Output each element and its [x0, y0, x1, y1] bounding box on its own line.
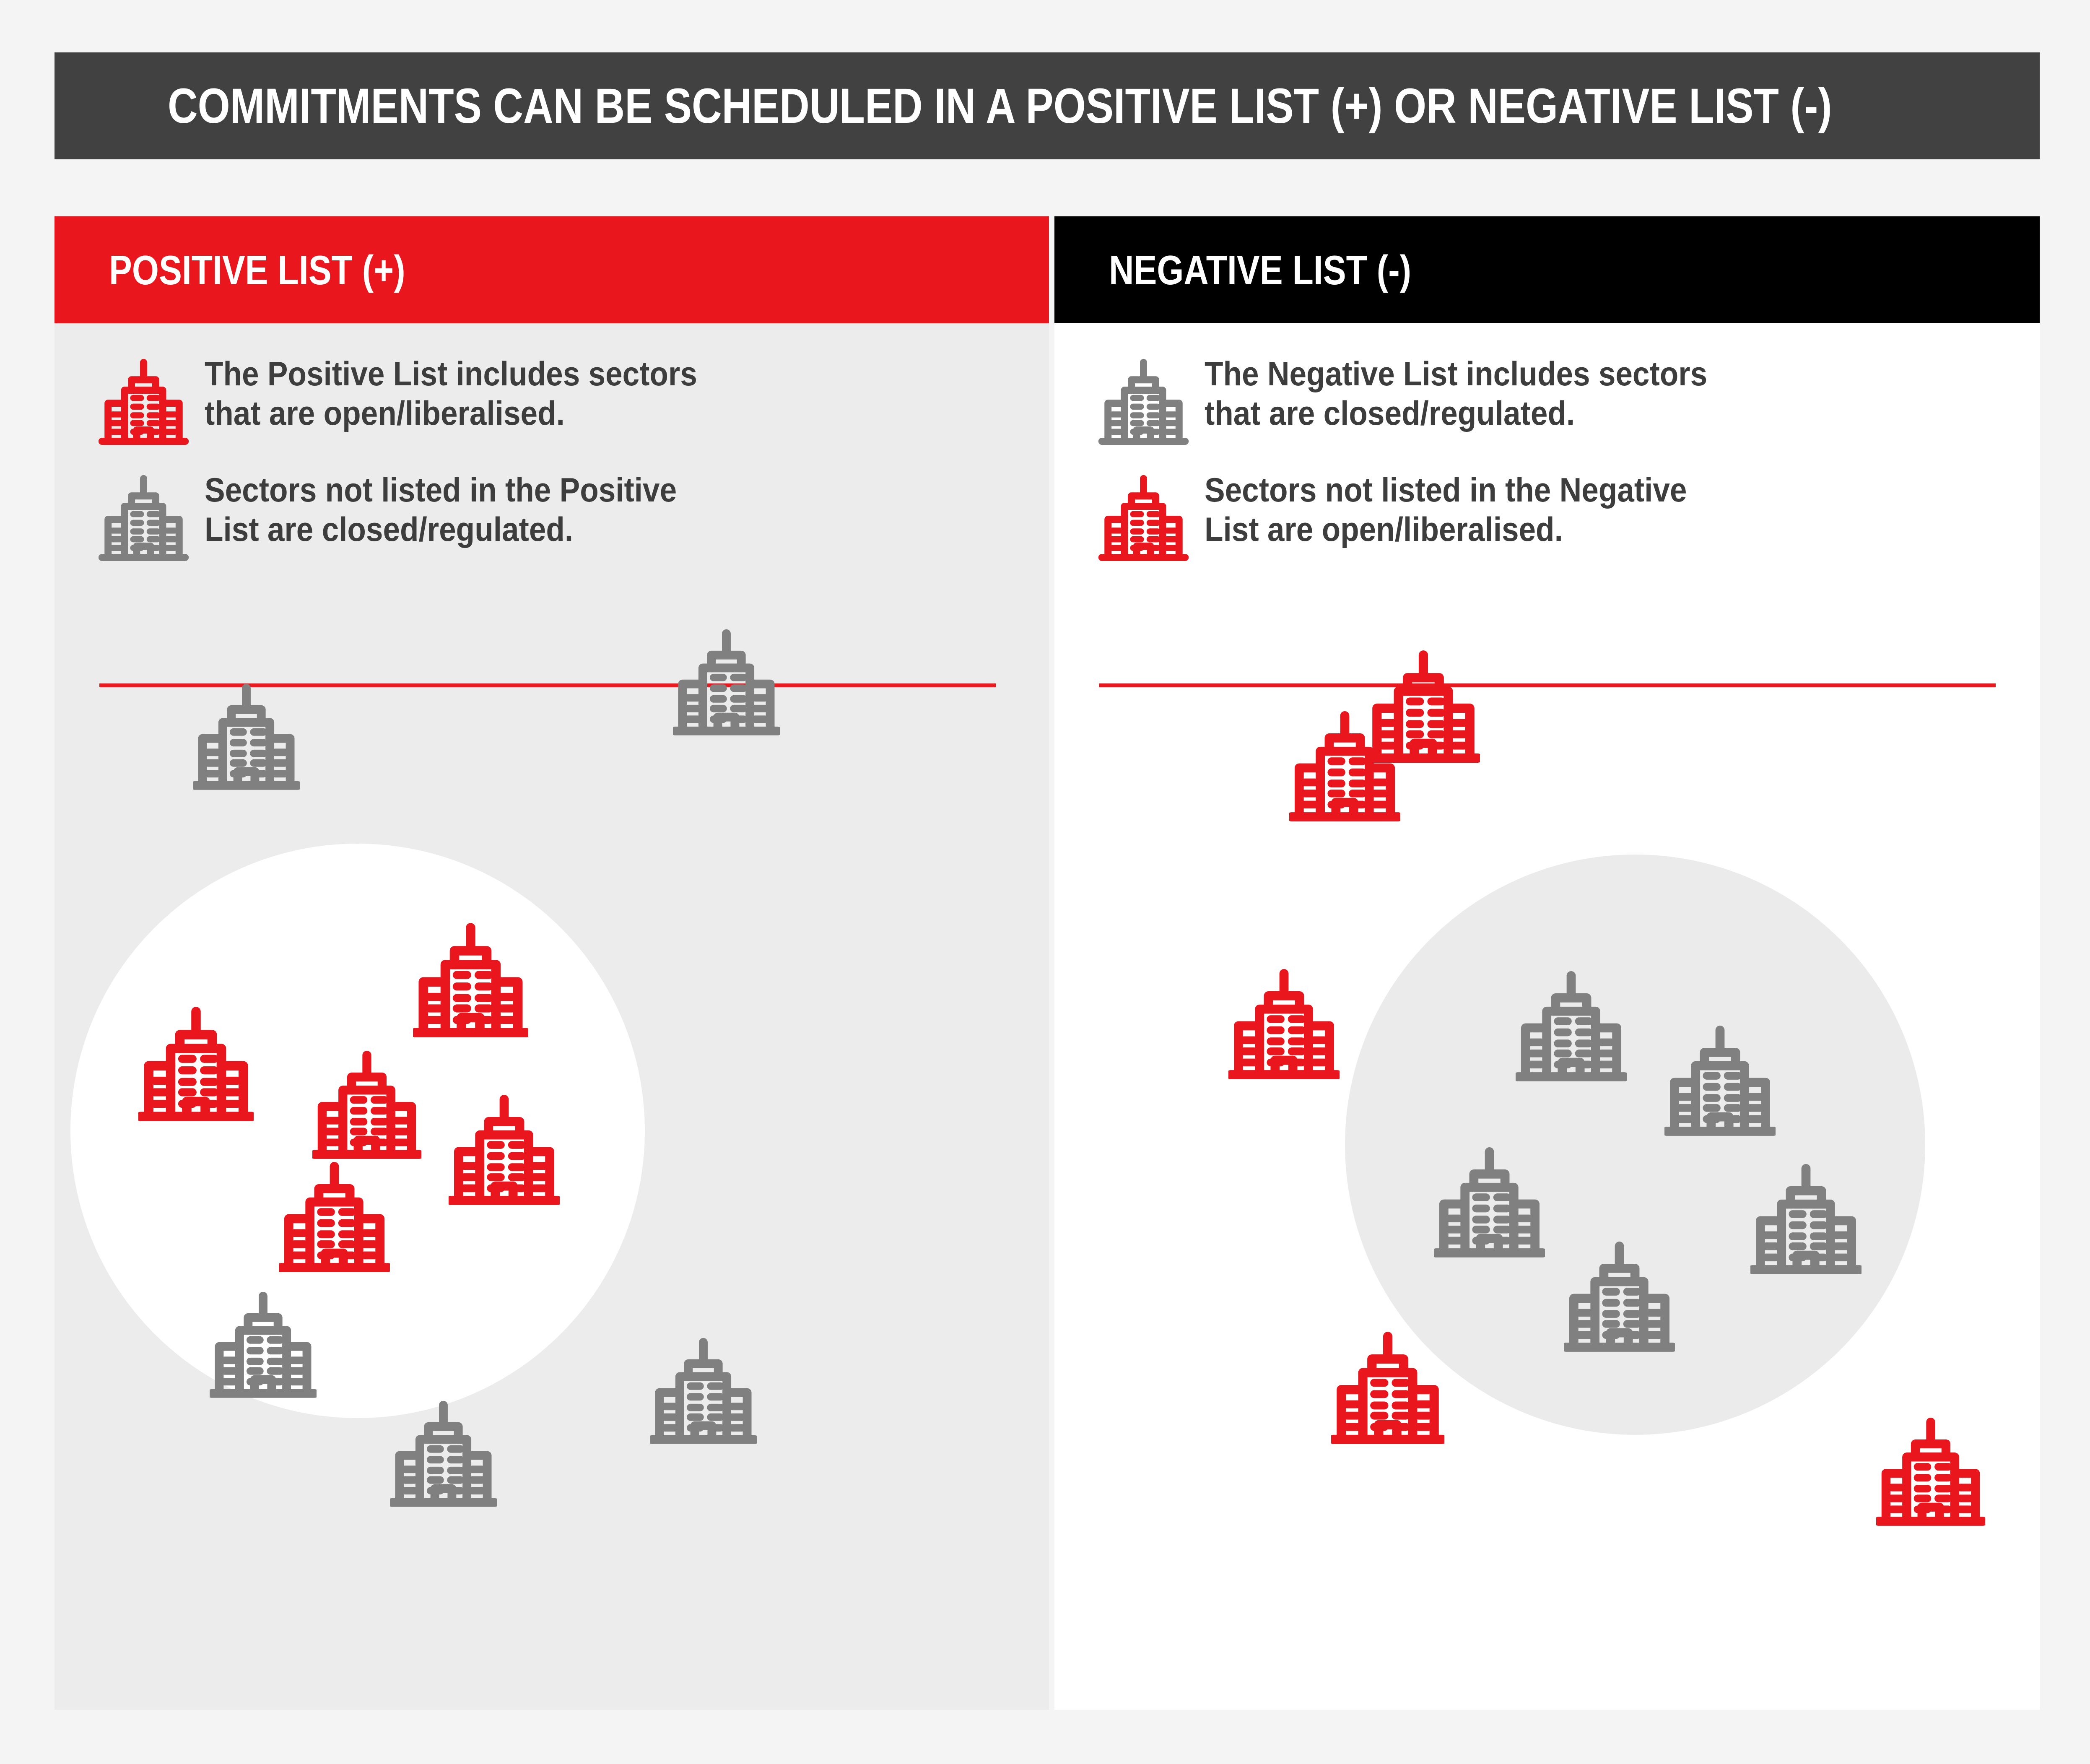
- building-icon: [650, 1336, 757, 1447]
- building-icon: [1228, 967, 1340, 1083]
- panel-positive-list: POSITIVE LIST (+) The Positive List incl…: [55, 216, 1049, 1710]
- building-icon: [312, 1049, 421, 1162]
- panel-negative-list: NEGATIVE LIST (-) The Negative List incl…: [1054, 216, 2040, 1710]
- building-icon: [449, 1093, 560, 1208]
- building-icon: [1750, 1162, 1862, 1278]
- building-icon: [673, 627, 780, 738]
- building-icon: [279, 1160, 390, 1276]
- building-icon: [210, 1290, 317, 1401]
- building-icon: [1289, 709, 1400, 825]
- scene-positive: [55, 216, 1049, 1710]
- building-icon: [1516, 969, 1627, 1085]
- building-icon: [138, 1005, 254, 1125]
- building-icon: [1331, 1330, 1444, 1447]
- building-icon: [390, 1399, 497, 1510]
- scene-negative: [1054, 216, 2040, 1710]
- title-bar: COMMITMENTS CAN BE SCHEDULED IN A POSITI…: [55, 52, 2040, 159]
- building-icon: [1664, 1024, 1776, 1139]
- building-icon: [1876, 1416, 1985, 1529]
- building-icon: [1434, 1145, 1545, 1261]
- page-title: COMMITMENTS CAN BE SCHEDULED IN A POSITI…: [168, 81, 1832, 131]
- building-icon: [413, 921, 528, 1041]
- building-icon: [1564, 1239, 1675, 1355]
- infographic-root: COMMITMENTS CAN BE SCHEDULED IN A POSITI…: [0, 0, 2090, 1764]
- building-icon: [193, 682, 300, 793]
